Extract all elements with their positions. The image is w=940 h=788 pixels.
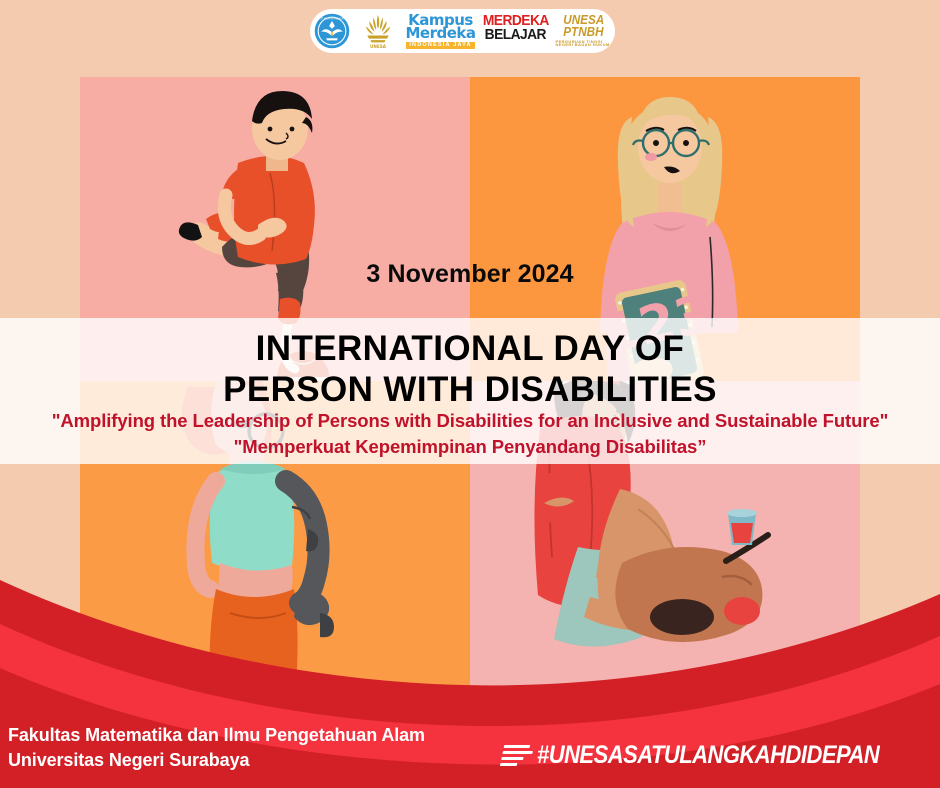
subtitle-indonesian: "Memperkuat Kepemimpinan Penyandang Disa… xyxy=(0,434,940,460)
hashtag-block: #UNESASATULANGKAHDIDEPAN xyxy=(502,741,926,770)
svg-text:UNESA: UNESA xyxy=(370,44,387,49)
headline-line-2: PERSON WITH DISABILITIES xyxy=(0,369,940,410)
kampus-merdeka-line2: Merdeka xyxy=(406,26,476,41)
ptnbh-line3: PERGURUAN TINGGI NEGERI BADAN HUKUM xyxy=(556,40,612,48)
ptnbh-line2: PTNBH xyxy=(563,26,603,38)
kampus-merdeka-line3: INDONESIA JAYA xyxy=(406,42,474,50)
merdeka-belajar-logo: MERDEKA BELAJAR xyxy=(485,14,547,48)
unesa-logo: UNESA xyxy=(359,12,397,50)
unesa-ptnbh-logo: UNESA PTNBH PERGURUAN TINGGI NEGERI BADA… xyxy=(556,14,612,48)
university-name: Universitas Negeri Surabaya xyxy=(8,748,425,772)
theme-subtitle: "Amplifying the Leadership of Persons wi… xyxy=(0,408,940,461)
merdeka-belajar-line2: BELAJAR xyxy=(485,28,546,42)
page-title: INTERNATIONAL DAY OF PERSON WITH DISABIL… xyxy=(0,328,940,411)
faculty-name: Fakultas Matematika dan Ilmu Pengetahuan… xyxy=(8,723,425,747)
kampus-merdeka-logo: Kampus Merdeka INDONESIA JAYA xyxy=(406,13,476,49)
tutwuri-handayani-logo: TUT WURI HANDAYANI xyxy=(314,13,350,49)
poster-canvas: TUT WURI HANDAYANI UNESA Kampus Merdeka … xyxy=(0,0,940,788)
logo-bar: TUT WURI HANDAYANI UNESA Kampus Merdeka … xyxy=(310,9,615,53)
subtitle-english: "Amplifying the Leadership of Persons wi… xyxy=(0,408,940,434)
faculty-info: Fakultas Matematika dan Ilmu Pengetahuan… xyxy=(8,723,425,772)
event-date: 3 November 2024 xyxy=(0,260,940,289)
speed-lines-icon xyxy=(500,745,534,766)
headline-line-1: INTERNATIONAL DAY OF xyxy=(0,328,940,369)
campaign-hashtag: #UNESASATULANGKAHDIDEPAN xyxy=(537,741,879,770)
